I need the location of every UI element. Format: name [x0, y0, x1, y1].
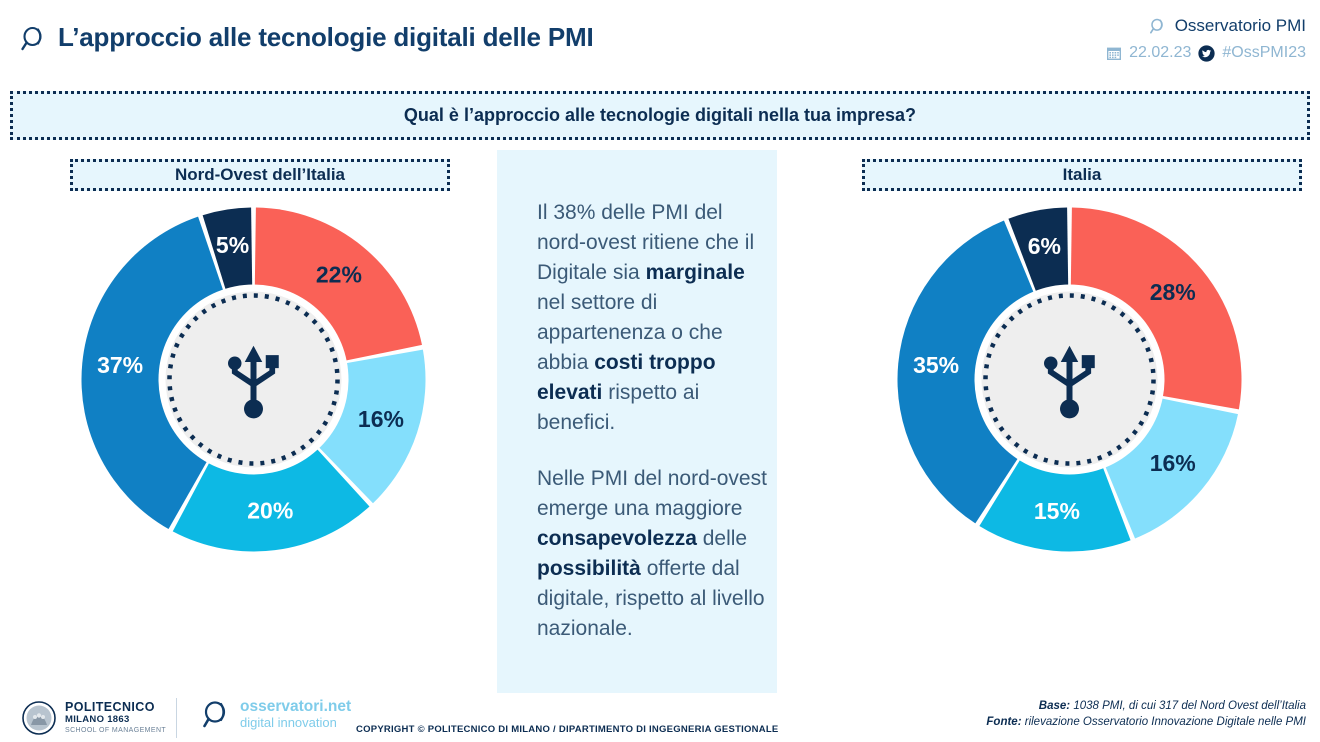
slice-label: 5% — [216, 232, 249, 258]
twitter-icon[interactable] — [1198, 45, 1215, 62]
calendar-icon — [1106, 45, 1122, 61]
slice-label: 15% — [1034, 498, 1080, 524]
center-commentary-text: Il 38% delle PMI del nord-ovest ritiene … — [537, 198, 769, 670]
osservatori-tld: .net — [324, 698, 352, 715]
politecnico-school: SCHOOL OF MANAGEMENT — [65, 726, 166, 736]
header-brand-label: Osservatorio PMI — [1175, 16, 1306, 36]
copyright-text: COPYRIGHT © POLITECNICO DI MILANO / DIPA… — [356, 724, 779, 735]
fonte-line: Fonte: rilevazione Osservatorio Innovazi… — [986, 714, 1306, 730]
footer-divider — [176, 698, 177, 738]
slice-label: 22% — [316, 261, 362, 287]
slice-label: 35% — [913, 352, 959, 378]
page-header: L’approccio alle tecnologie digitali del… — [0, 0, 1320, 78]
base-value: 1038 PMI, di cui 317 del Nord Ovest dell… — [1070, 700, 1306, 712]
osservatori-main: osservatori — [240, 698, 324, 715]
slice-label: 28% — [1150, 279, 1196, 305]
chart-title-box-nord-ovest: Nord-Ovest dell’Italia — [70, 159, 450, 191]
slice-label: 16% — [1150, 450, 1196, 476]
chart-title-box-italia: Italia — [862, 159, 1302, 191]
fonte-value: rilevazione Osservatorio Innovazione Dig… — [1022, 716, 1306, 728]
politecnico-year: MILANO 1863 — [65, 714, 166, 726]
header-brand-row: Osservatorio PMI — [1106, 14, 1306, 38]
slice-label: 16% — [358, 406, 404, 432]
header-date-row: 22.02.23 #OssPMI23 — [1106, 41, 1306, 65]
chart-block-nord-ovest: Nord-Ovest dell’Italia 22%16%20%37%5% Il… — [8, 150, 488, 695]
commentary-paragraph-1: Il 38% delle PMI del nord-ovest ritiene … — [537, 198, 769, 438]
center-commentary-panel: Il 38% delle PMI del nord-ovest ritiene … — [497, 150, 777, 693]
chart-title: Italia — [1063, 165, 1102, 185]
header-date: 22.02.23 — [1129, 44, 1191, 62]
politecnico-wordmark: POLITECNICO MILANO 1863 SCHOOL OF MANAGE… — [65, 700, 166, 736]
politecnico-logo: POLITECNICO MILANO 1863 SCHOOL OF MANAGE… — [22, 700, 166, 736]
slice-label: 6% — [1028, 233, 1061, 259]
donut-chart-nord-ovest: 22%16%20%37%5% — [76, 202, 431, 557]
infographic-page: L’approccio alle tecnologie digitali del… — [0, 0, 1320, 742]
osservatori-wordmark: osservatori.net digital innovation — [240, 698, 351, 730]
header-hashtag: #OssPMI23 — [1222, 44, 1306, 62]
osservatori-name: osservatori.net — [240, 698, 351, 715]
source-block: Base: 1038 PMI, di cui 317 del Nord Oves… — [986, 698, 1306, 730]
speech-magnifier-icon — [200, 698, 232, 730]
commentary-paragraph-2: Nelle PMI del nord-ovest emerge una magg… — [537, 464, 769, 644]
chart-title: Nord-Ovest dell’Italia — [175, 165, 345, 185]
slice-label: 37% — [97, 352, 143, 378]
question-text: Qual è l’approccio alle tecnologie digit… — [404, 105, 916, 126]
donut-chart-italia: 28%16%15%35%6% — [892, 202, 1247, 557]
base-label: Base: — [1039, 700, 1070, 712]
osservatori-tagline: digital innovation — [240, 715, 351, 730]
osservatori-logo: osservatori.net digital innovation — [200, 698, 351, 730]
chart-block-italia: Italia 28%16%15%35%6% Il Digitale è marg… — [832, 150, 1312, 695]
politecnico-seal-icon — [22, 701, 56, 735]
header-meta: Osservatorio PMI — [1106, 14, 1306, 65]
question-banner: Qual è l’approccio alle tecnologie digit… — [10, 91, 1310, 140]
speech-magnifier-icon — [18, 24, 48, 54]
speech-magnifier-icon — [1148, 17, 1167, 36]
fonte-label: Fonte: — [986, 716, 1021, 728]
politecnico-name: POLITECNICO — [65, 700, 166, 714]
page-title: L’approccio alle tecnologie digitali del… — [58, 22, 593, 53]
slice-label: 20% — [247, 498, 293, 524]
base-line: Base: 1038 PMI, di cui 317 del Nord Oves… — [986, 698, 1306, 714]
